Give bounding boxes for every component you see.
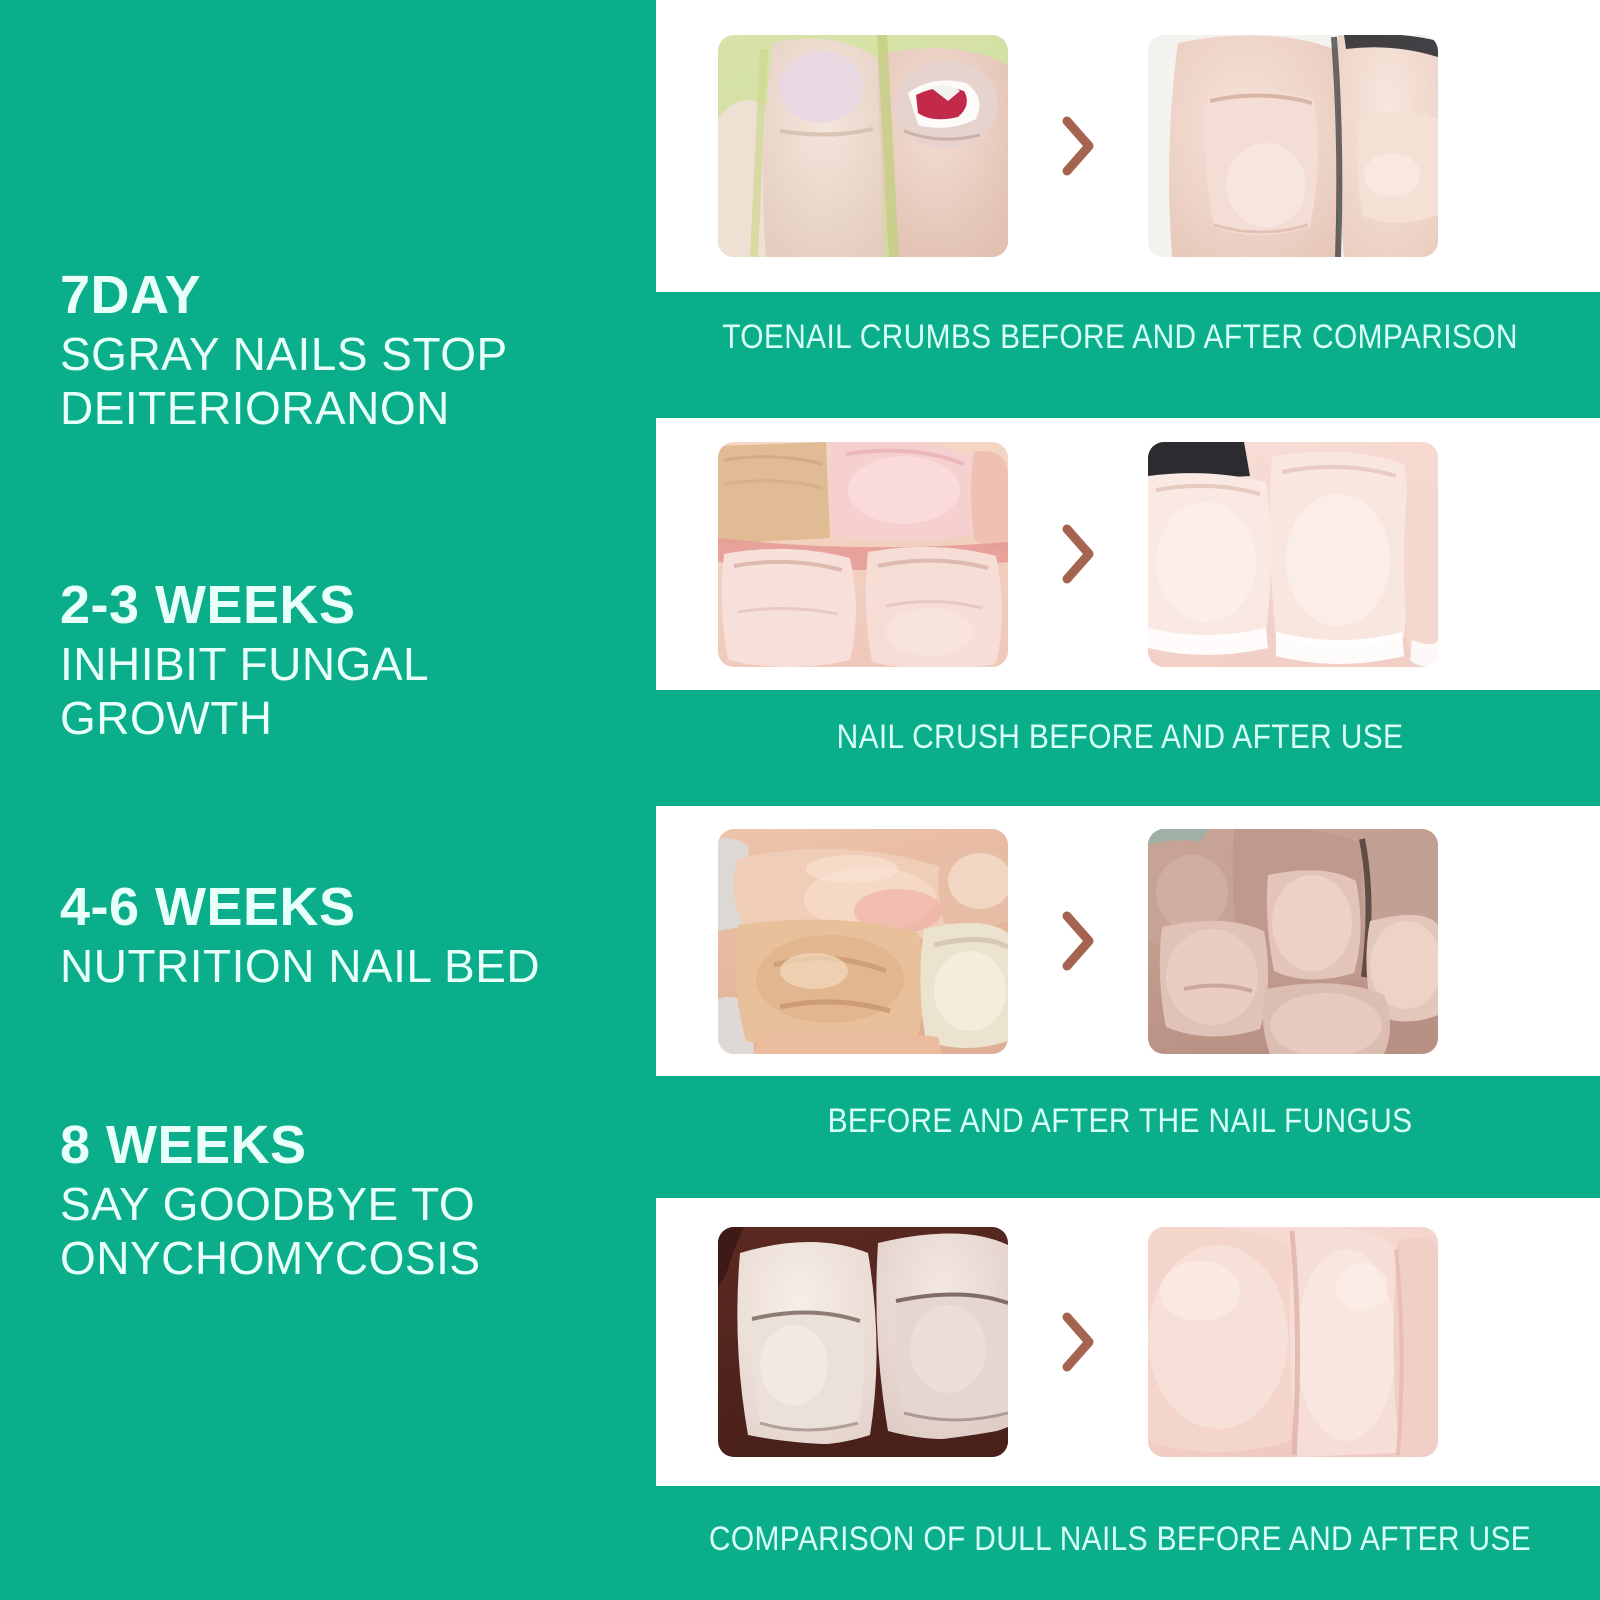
timeline-stage-3: 4-6 WEEKS NUTRITION NAIL BED xyxy=(60,880,620,993)
after-photo-4 xyxy=(1148,1227,1438,1457)
stage-3-benefit-line1: NUTRITION NAIL BED xyxy=(60,939,620,993)
infographic-page: 7DAY SGRAY NAILS STOP DEITERIORANON 2-3 … xyxy=(0,0,1600,1600)
stage-2-benefit-line1: INHIBIT FUNGAL xyxy=(60,637,620,691)
before-photo-4 xyxy=(718,1227,1008,1457)
stage-2-duration: 2-3 WEEKS xyxy=(60,578,620,633)
comparison-caption-3: BEFORE AND AFTER THE NAIL FUNGUS xyxy=(698,1102,1543,1141)
before-photo-1 xyxy=(718,35,1008,257)
comparison-panel-4: COMPARISON OF DULL NAILS BEFORE AND AFTE… xyxy=(640,1198,1600,1600)
after-photo-2 xyxy=(1148,442,1438,667)
arrow-icon-1 xyxy=(1008,35,1148,257)
comparison-caption-2: NAIL CRUSH BEFORE AND AFTER USE xyxy=(698,718,1543,757)
comparisons-column: TOENAIL CRUMBS BEFORE AND AFTER COMPARIS… xyxy=(640,0,1600,1600)
stage-4-benefit-line1: SAY GOODBYE TO xyxy=(60,1177,620,1231)
comparison-panel-3: BEFORE AND AFTER THE NAIL FUNGUS xyxy=(640,806,1600,1206)
timeline-stage-2: 2-3 WEEKS INHIBIT FUNGAL GROWTH xyxy=(60,578,620,746)
stage-1-benefit-line1: SGRAY NAILS STOP xyxy=(60,327,620,381)
stage-2-benefit-line2: GROWTH xyxy=(60,691,620,745)
timeline-stage-1: 7DAY SGRAY NAILS STOP DEITERIORANON xyxy=(60,268,620,436)
comparison-caption-1: TOENAIL CRUMBS BEFORE AND AFTER COMPARIS… xyxy=(698,318,1543,357)
arrow-icon-3 xyxy=(1008,829,1148,1054)
comparison-card-1 xyxy=(656,0,1600,292)
timeline-stage-4: 8 WEEKS SAY GOODBYE TO ONYCHOMYCOSIS xyxy=(60,1118,620,1286)
stage-3-duration: 4-6 WEEKS xyxy=(60,880,620,935)
comparison-card-3 xyxy=(656,806,1600,1076)
before-photo-2 xyxy=(718,442,1008,667)
before-photo-3 xyxy=(718,829,1008,1054)
stage-4-benefit-line2: ONYCHOMYCOSIS xyxy=(60,1231,620,1285)
after-photo-3 xyxy=(1148,829,1438,1054)
arrow-icon-2 xyxy=(1008,442,1148,667)
timeline-column: 7DAY SGRAY NAILS STOP DEITERIORANON 2-3 … xyxy=(0,0,640,1600)
comparison-card-4 xyxy=(656,1198,1600,1486)
comparison-panel-1: TOENAIL CRUMBS BEFORE AND AFTER COMPARIS… xyxy=(640,0,1600,400)
comparison-card-2 xyxy=(656,418,1600,690)
after-photo-1 xyxy=(1148,35,1438,257)
comparison-caption-4: COMPARISON OF DULL NAILS BEFORE AND AFTE… xyxy=(698,1520,1543,1559)
comparison-panel-2: NAIL CRUSH BEFORE AND AFTER USE xyxy=(640,418,1600,818)
arrow-icon-4 xyxy=(1008,1227,1148,1457)
stage-4-duration: 8 WEEKS xyxy=(60,1118,620,1173)
stage-1-benefit-line2: DEITERIORANON xyxy=(60,381,620,435)
stage-1-duration: 7DAY xyxy=(60,268,620,323)
